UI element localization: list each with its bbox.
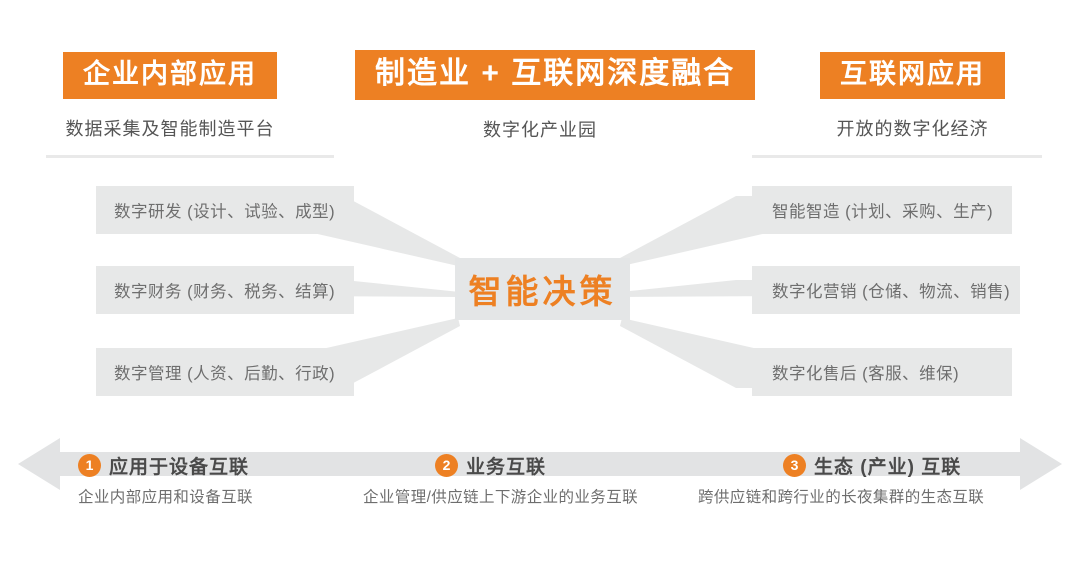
step-2-number-badge: 2 <box>435 454 458 477</box>
step-2-name: 业务互联 <box>466 452 546 479</box>
left-item-2-label: 数字财务 (财务、税务、结算) <box>114 278 335 302</box>
left-item-1[interactable]: 数字研发 (设计、试验、成型) <box>96 186 354 234</box>
step-1-description: 企业内部应用和设备互联 <box>78 485 253 507</box>
header-column-center: 制造业 + 互联网深度融合 数字化产业园 <box>355 50 725 142</box>
diagram-canvas: 企业内部应用 数据采集及智能制造平台 制造业 + 互联网深度融合 数字化产业园 … <box>0 0 1080 561</box>
header-subtitle-left: 数据采集及智能制造平台 <box>0 115 340 141</box>
step-3[interactable]: 3 生态 (产业) 互联 跨供应链和跨行业的长夜集群的生态互联 <box>783 452 1069 507</box>
header-column-right: 互联网应用 开放的数字化经济 <box>745 52 1080 141</box>
right-item-2-label: 数字化营销 (仓储、物流、销售) <box>772 278 1010 302</box>
left-item-2[interactable]: 数字财务 (财务、税务、结算) <box>96 266 354 314</box>
step-1-name: 应用于设备互联 <box>109 452 249 479</box>
step-2-description: 企业管理/供应链上下游企业的业务互联 <box>363 485 638 507</box>
step-3-number-badge: 3 <box>783 454 806 477</box>
header-subtitle-center: 数字化产业园 <box>355 116 725 142</box>
right-item-3-label: 数字化售后 (客服、维保) <box>772 360 959 384</box>
right-item-2[interactable]: 数字化营销 (仓储、物流、销售) <box>752 266 1020 314</box>
step-3-title: 3 生态 (产业) 互联 <box>783 452 1069 478</box>
right-item-1[interactable]: 智能智造 (计划、采购、生产) <box>752 186 1012 234</box>
divider-left <box>46 155 334 158</box>
header-badge-center: 制造业 + 互联网深度融合 <box>355 50 755 100</box>
right-item-1-label: 智能智造 (计划、采购、生产) <box>772 198 993 222</box>
header-badge-right: 互联网应用 <box>820 52 1005 99</box>
step-1-number-badge: 1 <box>78 454 101 477</box>
step-3-description: 跨供应链和跨行业的长夜集群的生态互联 <box>698 485 984 507</box>
step-2-title: 2 业务互联 <box>435 452 710 478</box>
center-node[interactable]: 智能决策 <box>455 258 630 320</box>
left-item-3[interactable]: 数字管理 (人资、后勤、行政) <box>96 348 354 396</box>
divider-right <box>752 155 1042 158</box>
step-1[interactable]: 1 应用于设备互联 企业内部应用和设备互联 <box>78 452 253 507</box>
center-node-label: 智能决策 <box>469 265 617 313</box>
left-item-1-label: 数字研发 (设计、试验、成型) <box>114 198 335 222</box>
header-column-left: 企业内部应用 数据采集及智能制造平台 <box>0 52 340 141</box>
right-item-3[interactable]: 数字化售后 (客服、维保) <box>752 348 1012 396</box>
step-1-title: 1 应用于设备互联 <box>78 452 253 478</box>
left-item-3-label: 数字管理 (人资、后勤、行政) <box>114 360 335 384</box>
header-subtitle-right: 开放的数字化经济 <box>745 115 1080 141</box>
step-3-name: 生态 (产业) 互联 <box>814 452 961 479</box>
step-2[interactable]: 2 业务互联 企业管理/供应链上下游企业的业务互联 <box>435 452 710 507</box>
header-badge-left: 企业内部应用 <box>63 52 277 99</box>
